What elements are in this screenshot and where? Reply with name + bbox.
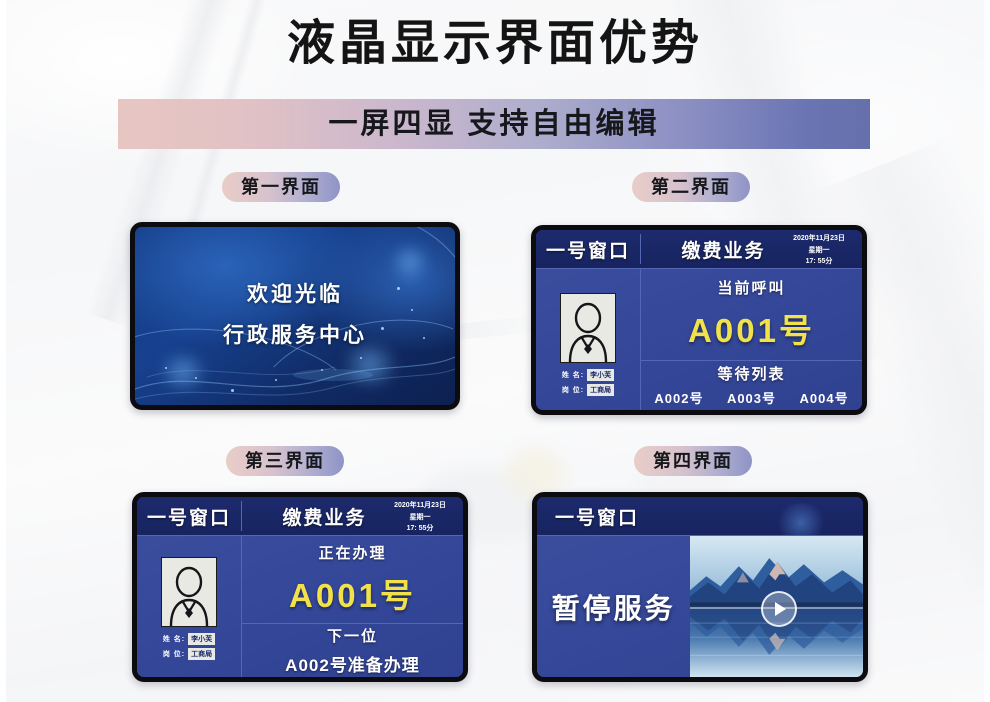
queue-body: 姓 名: 李小芙 岗 位: 工商局 当前呼叫 A001号 bbox=[536, 269, 862, 415]
screen-four-body: 暂停服务 bbox=[537, 536, 863, 677]
staff-name-label: 姓 名: bbox=[562, 370, 584, 380]
current-call-number: A001号 bbox=[688, 304, 815, 352]
poster-root: 液晶显示界面优势 一屏四显 支持自由编辑 第一界面 第二界面 第三界面 第四界面 bbox=[0, 0, 990, 702]
serving-label: 正在办理 bbox=[318, 542, 386, 563]
right-white-gutter bbox=[984, 0, 990, 702]
staff-post-label: 岗 位: bbox=[163, 649, 185, 659]
next-label: 下一位 bbox=[327, 625, 378, 646]
datetime-block: 2020年11月23日 星期一 17: 55分 bbox=[782, 233, 856, 268]
subtitle-banner: 一屏四显 支持自由编辑 bbox=[118, 99, 870, 149]
monitor-screen-four: 一号窗口 暂停服务 bbox=[532, 492, 868, 682]
staff-post-row: 岗 位: 工商局 bbox=[562, 384, 614, 396]
weekday-text: 星期一 bbox=[782, 245, 856, 257]
person-icon bbox=[162, 558, 216, 626]
current-call-block: 当前呼叫 A001号 bbox=[641, 269, 862, 361]
queue-main-area: 当前呼叫 A001号 等待列表 A002号 A003号 A004号 A005号 … bbox=[641, 269, 862, 415]
datetime-block: 2020年11月23日 星期一 17: 55分 bbox=[383, 500, 457, 535]
date-text: 2020年11月23日 bbox=[782, 233, 856, 245]
section-label-screen-two: 第二界面 bbox=[632, 172, 750, 202]
section-label-screen-one: 第一界面 bbox=[222, 172, 340, 202]
monitor-screen-three: 一号窗口 缴费业务 2020年11月23日 星期一 17: 55分 bbox=[132, 492, 468, 682]
window-name: 一号窗口 bbox=[537, 503, 639, 530]
section-label-screen-three: 第三界面 bbox=[226, 446, 344, 476]
play-button-icon[interactable] bbox=[761, 591, 797, 627]
staff-name-label: 姓 名: bbox=[163, 634, 185, 644]
staff-name-row: 姓 名: 李小芙 bbox=[562, 369, 614, 381]
staff-name-value: 李小芙 bbox=[587, 369, 614, 381]
welcome-screen: 欢迎光临 行政服务中心 bbox=[135, 227, 455, 405]
waiting-ticket: A004号 bbox=[793, 388, 856, 407]
waiting-ticket: A003号 bbox=[720, 388, 783, 407]
play-triangle-icon bbox=[775, 602, 786, 616]
welcome-line-one: 欢迎光临 bbox=[135, 275, 455, 316]
waiting-ticket: A006号 bbox=[720, 409, 783, 415]
page-title: 液晶显示界面优势 bbox=[0, 14, 990, 74]
staff-post-value: 工商局 bbox=[188, 648, 215, 660]
staff-name-row: 姓 名: 李小芙 bbox=[163, 633, 215, 645]
window-name: 一号窗口 bbox=[137, 503, 241, 530]
staff-avatar bbox=[161, 557, 217, 627]
waiting-ticket: A007号 bbox=[793, 409, 856, 415]
staff-post-label: 岗 位: bbox=[562, 385, 584, 395]
person-icon bbox=[561, 294, 615, 362]
staff-avatar bbox=[560, 293, 616, 363]
welcome-line-two: 行政服务中心 bbox=[135, 316, 455, 357]
time-text: 17: 55分 bbox=[383, 523, 457, 535]
section-label-screen-four: 第四界面 bbox=[634, 446, 752, 476]
next-ticket-block: 下一位 A002号准备办理 bbox=[242, 624, 463, 677]
date-text: 2020年11月23日 bbox=[383, 500, 457, 512]
paused-text-area: 暂停服务 bbox=[537, 536, 690, 677]
queue-display-serving: 一号窗口 缴费业务 2020年11月23日 星期一 17: 55分 bbox=[137, 497, 463, 677]
waiting-ticket: A002号 bbox=[648, 388, 711, 407]
screen-four-header: 一号窗口 bbox=[537, 497, 863, 536]
staff-name-value: 李小芙 bbox=[188, 633, 215, 645]
monitor-screen-one: 欢迎光临 行政服务中心 bbox=[130, 222, 460, 410]
paused-text: 暂停服务 bbox=[552, 587, 676, 627]
waiting-list-block: 等待列表 A002号 A003号 A004号 A005号 A006号 A007号 bbox=[641, 361, 862, 415]
queue-body: 姓 名: 李小芙 岗 位: 工商局 正在办理 A001号 bbox=[137, 536, 463, 677]
weekday-text: 星期一 bbox=[383, 512, 457, 524]
monitor-screen-two: 一号窗口 缴费业务 2020年11月23日 星期一 17: 55分 bbox=[531, 225, 867, 415]
serving-block: 正在办理 A001号 bbox=[242, 536, 463, 624]
paused-service-screen: 一号窗口 暂停服务 bbox=[537, 497, 863, 677]
staff-fields: 姓 名: 李小芙 岗 位: 工商局 bbox=[562, 369, 614, 396]
waiting-list-grid: A002号 A003号 A004号 A005号 A006号 A007号 bbox=[648, 388, 856, 415]
left-white-gutter bbox=[0, 0, 6, 702]
header-glow bbox=[775, 503, 827, 536]
queue-header-bar: 一号窗口 缴费业务 2020年11月23日 星期一 17: 55分 bbox=[137, 497, 463, 536]
subtitle-text: 一屏四显 支持自由编辑 bbox=[118, 99, 870, 149]
queue-main-area: 正在办理 A001号 下一位 A002号准备办理 bbox=[242, 536, 463, 677]
queue-header-bar: 一号窗口 缴费业务 2020年11月23日 星期一 17: 55分 bbox=[536, 230, 862, 269]
staff-post-row: 岗 位: 工商局 bbox=[163, 648, 215, 660]
next-text: A002号准备办理 bbox=[285, 651, 420, 676]
waiting-list-label: 等待列表 bbox=[717, 363, 785, 384]
waiting-ticket: A005号 bbox=[648, 409, 711, 415]
window-name: 一号窗口 bbox=[536, 236, 640, 263]
serving-number: A001号 bbox=[289, 569, 416, 617]
staff-post-value: 工商局 bbox=[587, 384, 614, 396]
staff-card: 姓 名: 李小芙 岗 位: 工商局 bbox=[536, 269, 641, 415]
current-call-label: 当前呼叫 bbox=[717, 277, 785, 298]
welcome-text-block: 欢迎光临 行政服务中心 bbox=[135, 275, 455, 357]
time-text: 17: 55分 bbox=[782, 256, 856, 268]
video-player[interactable] bbox=[690, 536, 863, 677]
staff-card: 姓 名: 李小芙 岗 位: 工商局 bbox=[137, 536, 242, 677]
staff-fields: 姓 名: 李小芙 岗 位: 工商局 bbox=[163, 633, 215, 660]
queue-display-calling: 一号窗口 缴费业务 2020年11月23日 星期一 17: 55分 bbox=[536, 230, 862, 410]
